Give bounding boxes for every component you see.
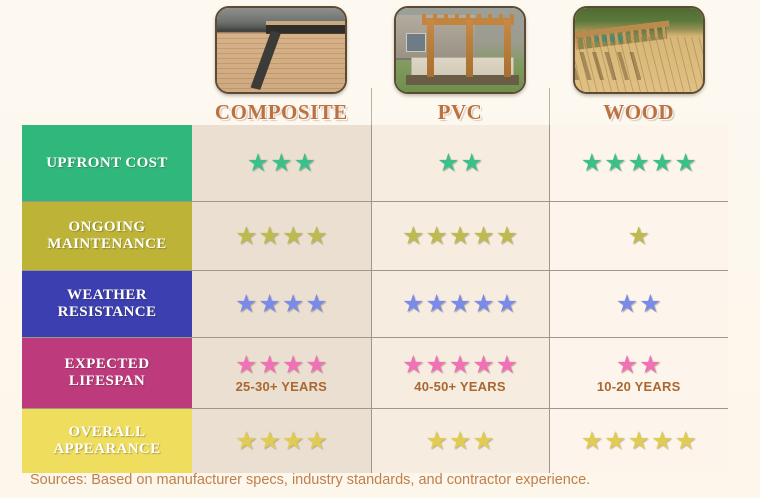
cell-weather-resistance-pvc: ★★★★★ — [371, 271, 550, 337]
header-column-composite: COMPOSITE — [192, 0, 371, 125]
cell-ongoing-maintenance-pvc: ★★★★★ — [371, 202, 550, 270]
row-label-ongoing-maintenance: ONGOING MAINTENANCE — [22, 202, 192, 270]
row-label-text: EXPECTED LIFESPAN — [30, 356, 184, 390]
star-icon: ★ — [472, 353, 494, 378]
row-label-text: WEATHER RESISTANCE — [30, 287, 184, 321]
composite-deck-photo — [215, 6, 347, 94]
star-icon: ★ — [449, 429, 471, 454]
cell-upfront-cost-composite: ★★★ — [192, 125, 371, 201]
star-icon: ★ — [674, 151, 696, 176]
star-icon: ★ — [305, 353, 327, 378]
star-rating-weather-resistance-composite: ★★★★ — [235, 292, 328, 317]
star-icon: ★ — [282, 353, 304, 378]
cell-expected-lifespan-wood: ★★ 10-20 YEARS — [549, 338, 728, 408]
column-title-composite: COMPOSITE — [215, 100, 348, 125]
lifespan-value-composite: 25-30+ YEARS — [236, 379, 327, 394]
table-row-upfront-cost: UPFRONT COST ★★★ ★★ ★★★★★ — [22, 125, 728, 201]
star-icon: ★ — [402, 353, 424, 378]
star-icon: ★ — [294, 151, 316, 176]
star-icon: ★ — [627, 429, 649, 454]
star-icon: ★ — [305, 429, 327, 454]
row-label-text: UPFRONT COST — [46, 155, 168, 172]
star-rating-upfront-cost-wood: ★★★★★ — [581, 151, 697, 176]
star-rating-ongoing-maintenance-pvc: ★★★★★ — [402, 224, 518, 249]
star-icon: ★ — [425, 224, 447, 249]
star-icon: ★ — [449, 353, 471, 378]
star-icon: ★ — [235, 429, 257, 454]
star-icon: ★ — [496, 224, 518, 249]
star-icon: ★ — [425, 353, 447, 378]
star-icon: ★ — [616, 353, 638, 378]
star-icon: ★ — [627, 224, 649, 249]
star-icon: ★ — [449, 224, 471, 249]
star-rating-ongoing-maintenance-wood: ★ — [627, 224, 649, 249]
star-icon: ★ — [449, 292, 471, 317]
star-icon: ★ — [402, 292, 424, 317]
star-icon: ★ — [282, 292, 304, 317]
star-icon: ★ — [270, 151, 292, 176]
star-icon: ★ — [258, 429, 280, 454]
lifespan-value-wood: 10-20 YEARS — [597, 379, 681, 394]
star-rating-weather-resistance-pvc: ★★★★★ — [402, 292, 518, 317]
star-icon: ★ — [651, 429, 673, 454]
header-column-wood: WOOD — [549, 0, 728, 125]
row-label-text: OVERALL APPEARANCE — [30, 424, 184, 458]
star-icon: ★ — [235, 224, 257, 249]
pvc-deck-photo — [394, 6, 526, 94]
table-row-ongoing-maintenance: ONGOING MAINTENANCE ★★★★ ★★★★★ ★ — [22, 201, 728, 270]
cell-overall-appearance-wood: ★★★★★ — [549, 409, 728, 473]
sources-note: Sources: Based on manufacturer specs, in… — [30, 472, 590, 488]
star-icon: ★ — [305, 224, 327, 249]
star-icon: ★ — [674, 429, 696, 454]
deck-material-comparison-infographic: COMPOSITE PVC — [0, 0, 760, 498]
star-icon: ★ — [639, 353, 661, 378]
row-label-overall-appearance: OVERALL APPEARANCE — [22, 409, 192, 473]
star-icon: ★ — [258, 292, 280, 317]
row-label-upfront-cost: UPFRONT COST — [22, 125, 192, 201]
star-icon: ★ — [604, 151, 626, 176]
comparison-header: COMPOSITE PVC — [22, 0, 728, 125]
star-icon: ★ — [247, 151, 269, 176]
star-icon: ★ — [258, 224, 280, 249]
star-icon: ★ — [496, 353, 518, 378]
lifespan-value-pvc: 40-50+ YEARS — [414, 379, 505, 394]
column-title-pvc: PVC — [438, 100, 483, 125]
cell-weather-resistance-composite: ★★★★ — [192, 271, 371, 337]
star-icon: ★ — [258, 353, 280, 378]
star-rating-overall-appearance-pvc: ★★★ — [425, 429, 494, 454]
cell-overall-appearance-composite: ★★★★ — [192, 409, 371, 473]
row-label-text: ONGOING MAINTENANCE — [30, 219, 184, 253]
star-rating-upfront-cost-composite: ★★★ — [247, 151, 316, 176]
cell-expected-lifespan-composite: ★★★★ 25-30+ YEARS — [192, 338, 371, 408]
star-icon: ★ — [581, 429, 603, 454]
table-row-overall-appearance: OVERALL APPEARANCE ★★★★ ★★★ ★★★★★ — [22, 408, 728, 473]
comparison-table: UPFRONT COST ★★★ ★★ ★★★★★ ONGOING MAINTE… — [22, 125, 728, 473]
star-icon: ★ — [305, 292, 327, 317]
star-icon: ★ — [402, 224, 424, 249]
table-row-weather-resistance: WEATHER RESISTANCE ★★★★ ★★★★★ ★★ — [22, 270, 728, 337]
star-icon: ★ — [639, 292, 661, 317]
cell-ongoing-maintenance-composite: ★★★★ — [192, 202, 371, 270]
wood-deck-photo — [573, 6, 705, 94]
star-icon: ★ — [425, 292, 447, 317]
cell-weather-resistance-wood: ★★ — [549, 271, 728, 337]
star-rating-ongoing-maintenance-composite: ★★★★ — [235, 224, 328, 249]
star-icon: ★ — [235, 353, 257, 378]
star-rating-weather-resistance-wood: ★★ — [616, 292, 662, 317]
star-rating-expected-lifespan-pvc: ★★★★★ — [402, 353, 518, 378]
star-icon: ★ — [616, 292, 638, 317]
star-icon: ★ — [282, 224, 304, 249]
table-row-expected-lifespan: EXPECTED LIFESPAN ★★★★ 25-30+ YEARS ★★★★… — [22, 337, 728, 408]
column-title-wood: WOOD — [603, 100, 674, 125]
star-icon: ★ — [651, 151, 673, 176]
star-icon: ★ — [604, 429, 626, 454]
star-rating-overall-appearance-wood: ★★★★★ — [581, 429, 697, 454]
star-icon: ★ — [472, 224, 494, 249]
star-rating-expected-lifespan-wood: ★★ — [616, 353, 662, 378]
header-corner-spacer — [22, 0, 192, 125]
cell-ongoing-maintenance-wood: ★ — [549, 202, 728, 270]
star-icon: ★ — [627, 151, 649, 176]
star-icon: ★ — [472, 292, 494, 317]
row-label-expected-lifespan: EXPECTED LIFESPAN — [22, 338, 192, 408]
row-label-weather-resistance: WEATHER RESISTANCE — [22, 271, 192, 337]
cell-upfront-cost-wood: ★★★★★ — [549, 125, 728, 201]
star-icon: ★ — [472, 429, 494, 454]
star-rating-expected-lifespan-composite: ★★★★ — [235, 353, 328, 378]
star-rating-upfront-cost-pvc: ★★ — [437, 151, 483, 176]
star-icon: ★ — [282, 429, 304, 454]
star-icon: ★ — [235, 292, 257, 317]
cell-overall-appearance-pvc: ★★★ — [371, 409, 550, 473]
star-icon: ★ — [496, 292, 518, 317]
header-column-pvc: PVC — [371, 0, 550, 125]
cell-upfront-cost-pvc: ★★ — [371, 125, 550, 201]
cell-expected-lifespan-pvc: ★★★★★ 40-50+ YEARS — [371, 338, 550, 408]
star-icon: ★ — [425, 429, 447, 454]
star-rating-overall-appearance-composite: ★★★★ — [235, 429, 328, 454]
star-icon: ★ — [581, 151, 603, 176]
star-icon: ★ — [461, 151, 483, 176]
star-icon: ★ — [437, 151, 459, 176]
